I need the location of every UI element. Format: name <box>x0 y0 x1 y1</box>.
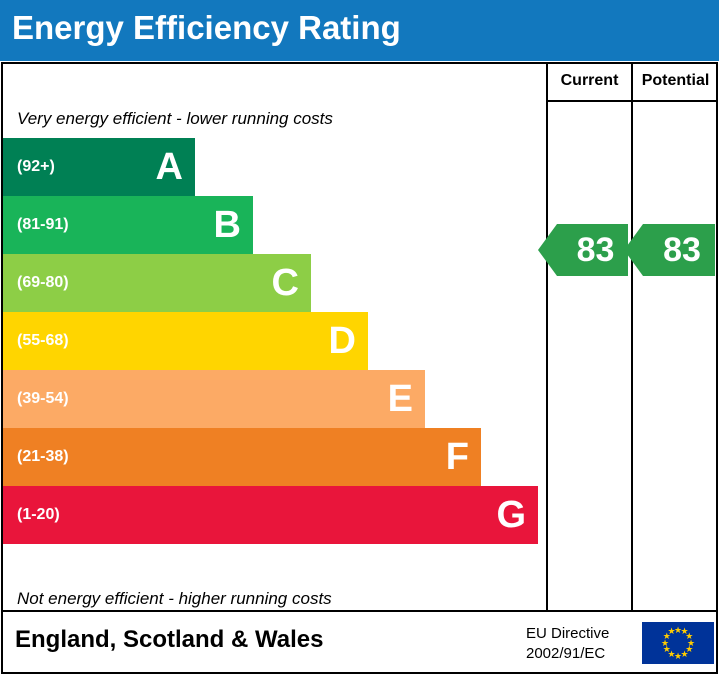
eu-star-icon: ★ <box>667 627 676 636</box>
epc-certificate: Energy Efficiency Rating Current Potenti… <box>0 0 719 675</box>
footer-directive-line1: EU Directive <box>526 624 609 644</box>
band-g-letter: G <box>496 496 526 534</box>
band-d: (55-68) D <box>3 312 368 370</box>
arrow-left-icon <box>624 224 643 276</box>
band-f-range: (21-38) <box>17 448 69 466</box>
column-divider-right <box>631 64 633 610</box>
band-c-range: (69-80) <box>17 274 69 292</box>
band-f-letter: F <box>446 438 469 476</box>
band-f: (21-38) F <box>3 428 481 486</box>
column-header-potential: Potential <box>633 72 718 90</box>
band-d-range: (55-68) <box>17 332 69 350</box>
footer-directive: EU Directive 2002/91/EC <box>526 624 609 665</box>
footer-bar: England, Scotland & Wales EU Directive 2… <box>1 612 718 674</box>
current-rating-value: 83 <box>571 233 615 267</box>
current-rating-badge: 83 <box>557 224 628 276</box>
footer-region-label: England, Scotland & Wales <box>15 626 323 654</box>
column-header-row: Current Potential <box>3 64 716 100</box>
footer-directive-line2: 2002/91/EC <box>526 644 609 664</box>
column-header-current: Current <box>548 72 631 90</box>
caption-top: Very energy efficient - lower running co… <box>17 109 333 129</box>
page-title: Energy Efficiency Rating <box>12 9 401 47</box>
band-e: (39-54) E <box>3 370 425 428</box>
column-divider-left <box>546 64 548 610</box>
potential-rating-value: 83 <box>657 233 701 267</box>
band-e-range: (39-54) <box>17 390 69 408</box>
band-b-letter: B <box>214 206 241 244</box>
band-a-range: (92+) <box>17 158 55 176</box>
title-bar: Energy Efficiency Rating <box>0 0 719 61</box>
arrow-left-icon <box>538 224 557 276</box>
band-e-letter: E <box>388 380 413 418</box>
potential-rating-badge: 83 <box>643 224 715 276</box>
band-g: (1-20) G <box>3 486 538 544</box>
eu-flag-icon: ★★★★★★★★★★★★ <box>642 622 714 664</box>
rating-bands: (92+) A (81-91) B (69-80) C (55-68) D (3… <box>3 138 546 588</box>
band-d-letter: D <box>329 322 356 360</box>
band-a: (92+) A <box>3 138 195 196</box>
caption-bottom: Not energy efficient - higher running co… <box>17 589 332 609</box>
band-a-letter: A <box>156 148 183 186</box>
band-c-letter: C <box>272 264 299 302</box>
band-g-range: (1-20) <box>17 506 60 524</box>
chart-frame: Current Potential Very energy efficient … <box>1 62 718 612</box>
band-b-range: (81-91) <box>17 216 69 234</box>
band-b: (81-91) B <box>3 196 253 254</box>
band-c: (69-80) C <box>3 254 311 312</box>
